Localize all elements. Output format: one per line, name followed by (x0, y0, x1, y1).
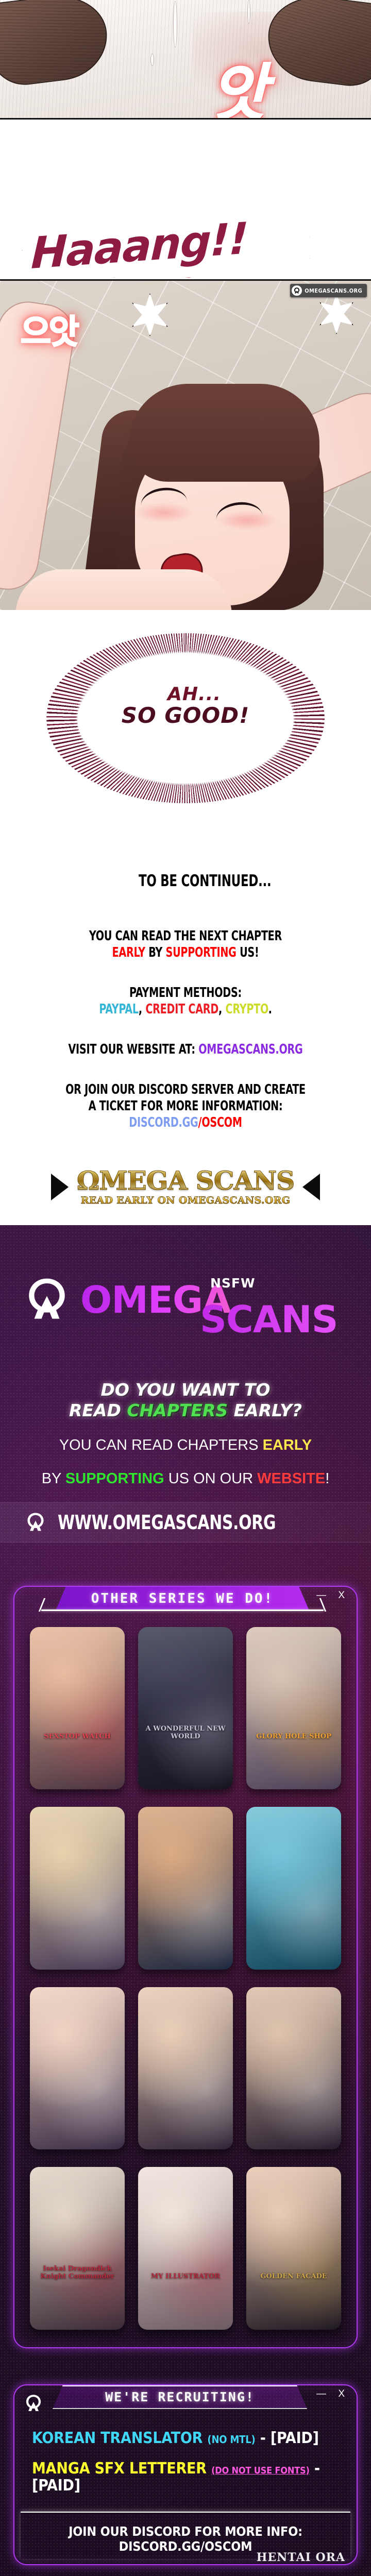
omega-logo-icon (23, 1276, 71, 1324)
recruit-footer: JOIN OUR DISCORD FOR MORE INFO: DISCORD.… (21, 2512, 350, 2559)
character-torso (15, 569, 232, 610)
sub1-early: EARLY (263, 1437, 312, 1453)
comic-panel-3: 으앗 OMEGASCANS.ORG (0, 279, 371, 610)
series-card[interactable]: Isekai Dragondick Knight Commander (30, 2167, 125, 2329)
headline-line-2: READ CHAPTERS EARLY? (0, 1400, 371, 1421)
site-watermark: OMEGASCANS.ORG (290, 284, 367, 297)
series-card[interactable]: A WONDERFUL NEW WORLD (138, 1627, 233, 1789)
cover-gloss (138, 2167, 233, 2329)
omegascans-gold-banner: ΩMEGA SCANS READ EARLY ON OMEGASCANS.ORG (0, 1149, 371, 1225)
dark-sub-line-2: BY SUPPORTING US ON OUR WEBSITE! (0, 1469, 371, 1489)
sub2-by: BY (42, 1470, 65, 1487)
role-dash: - (256, 2429, 271, 2447)
role-dash: - (310, 2460, 320, 2478)
payment-methods-values: PAYPAL, CREDIT CARD, CRYPTO. (33, 1002, 338, 1017)
gold-banner-text: ΩMEGA SCANS READ EARLY ON OMEGASCANS.ORG (77, 1168, 294, 1206)
website-url-bar[interactable]: WWW.OMEGASCANS.ORG (0, 1502, 371, 1543)
sfx-korean-panel3: 으앗 (21, 306, 77, 353)
sub2-bang: ! (325, 1470, 329, 1487)
by-word: BY (145, 945, 166, 960)
comic-panel-2: Haaang!! (0, 120, 371, 279)
sep: , (139, 1002, 145, 1017)
recruit-discord-line[interactable]: JOIN OUR DISCORD FOR MORE INFO: DISCORD.… (21, 2524, 350, 2554)
webtoon-page: 앗 Haaang!! 으앗 OMEGASCANS.ORG (0, 0, 371, 2576)
crypto-label: CRYPTO (226, 1002, 268, 1017)
series-title: A WONDERFUL NEW WORLD (138, 1725, 233, 1741)
series-card[interactable] (246, 1987, 341, 2149)
right-arrow-icon (302, 1174, 320, 1200)
hentai-ora-brand: HENTAI ORA (257, 2551, 345, 2564)
cover-gloss (30, 1807, 125, 1969)
us-word: US! (237, 945, 259, 960)
role-row: KOREAN TRANSLATOR (NO MTL) - [PAID] (32, 2430, 357, 2447)
headline-line-1: DO YOU WANT TO (0, 1380, 371, 1400)
cover-gloss (30, 1987, 125, 2149)
payment-methods-label: PAYMENT METHODS: (33, 985, 338, 1001)
gold-banner-subtitle: READ EARLY ON OMEGASCANS.ORG (77, 1195, 294, 1206)
support-line: EARLY BY SUPPORTING US! (33, 945, 338, 960)
recruiting-window: WE'RE RECRUITING! — X KOREAN TRANSLATOR … (13, 2384, 358, 2565)
series-card[interactable] (138, 1987, 233, 2149)
fluid-drip (150, 54, 154, 66)
role-name: MANGA SFX LETTERER (32, 2460, 207, 2478)
cover-gloss (138, 1627, 233, 1789)
site-url-text[interactable]: WWW.OMEGASCANS.ORG (58, 1511, 276, 1534)
series-card[interactable]: GOLDEN FACADE (246, 2167, 341, 2329)
gold-banner-title: ΩMEGA SCANS (77, 1168, 294, 1194)
dark-sub-line-1: YOU CAN READ CHAPTERS EARLY (0, 1436, 371, 1455)
series-card[interactable] (246, 1807, 341, 1969)
comic-panel-4-bubble: AH... SO GOOD! (0, 610, 371, 857)
discord-line-1: OR JOIN OUR DISCORD SERVER AND CREATE (33, 1082, 338, 1097)
early-word: EARLY (112, 945, 145, 960)
sub2-mid: US ON OUR (164, 1470, 257, 1487)
bubble-line-2: SO GOOD! (0, 704, 371, 727)
role-row: MANGA SFX LETTERER (DO NOT USE FONTS) - … (32, 2460, 357, 2494)
window-title-chip: OTHER SERIES WE DO! (56, 1587, 309, 1611)
cover-gloss (246, 1987, 341, 2149)
hair-bangs (129, 384, 319, 482)
sep: , (218, 1002, 225, 1017)
discord-path[interactable]: /OSCOM (198, 1115, 242, 1130)
comic-panel-1: 앗 (0, 0, 371, 120)
role-pay: [PAID] (271, 2429, 319, 2447)
paypal-label: PAYPAL (99, 1002, 138, 1017)
series-title: GLORY HOLE SHOP (246, 1733, 341, 1741)
website-url[interactable]: OMEGASCANS.ORG (198, 1042, 302, 1057)
series-grid: SEXSTOP WATCHA WONDERFUL NEW WORLDGLORY … (14, 1619, 357, 2330)
visit-website-line[interactable]: VISIT OUR WEBSITE AT: OMEGASCANS.ORG (33, 1042, 338, 1057)
left-arrow-icon (51, 1174, 69, 1200)
discord-line-2: A TICKET FOR MORE INFORMATION: (33, 1098, 338, 1114)
titlebar-underline (41, 1609, 324, 1611)
discord-invite-link[interactable]: DISCORD.GG/OSCOM (33, 1115, 338, 1130)
cover-gloss (138, 1987, 233, 2149)
recruit-title-chip: WE'RE RECRUITING! (53, 2385, 307, 2409)
series-card[interactable] (138, 1807, 233, 1969)
series-card[interactable]: MY ILLUSTRATOR (138, 2167, 233, 2329)
sub2-website: WEBSITE (257, 1470, 325, 1487)
cover-gloss (30, 1627, 125, 1789)
cover-gloss (246, 2167, 341, 2329)
bubble-line-1: AH... (0, 685, 371, 704)
other-series-window: OTHER SERIES WE DO! — X SEXSTOP WATCHA W… (13, 1586, 358, 2348)
series-title: MY ILLUSTRATOR (138, 2273, 233, 2281)
sub2-supporting: SUPPORTING (65, 1470, 164, 1487)
role-note: (NO MTL) (207, 2433, 255, 2446)
logo-nsfw-badge: NSFW (210, 1277, 256, 1290)
discord-host[interactable]: DISCORD.GG (129, 1115, 198, 1130)
omegascans-nsfw-logo: OMEGA SCANS NSFW (0, 1225, 371, 1375)
logo-scans-text: SCANS (200, 1302, 338, 1337)
credit-card-label: CREDIT CARD (145, 1002, 218, 1017)
other-series-title: OTHER SERIES WE DO! (91, 1591, 274, 1606)
headline-early: EARLY? (228, 1400, 302, 1420)
omega-logo-icon (25, 1512, 46, 1533)
period: . (268, 1002, 272, 1017)
series-title: SEXSTOP WATCH (30, 1733, 125, 1741)
sub1-text: YOU CAN READ CHAPTERS (59, 1437, 263, 1453)
series-title: Isekai Dragondick Knight Commander (30, 2265, 125, 2281)
window-controls[interactable]: — X (316, 2388, 349, 2400)
cover-gloss (246, 1627, 341, 1789)
series-card[interactable] (30, 1987, 125, 2149)
series-card[interactable]: GLORY HOLE SHOP (246, 1627, 341, 1789)
to-be-continued: TO BE CONTINUED... (33, 872, 338, 890)
headline-chapters: CHAPTERS (127, 1400, 228, 1420)
headline-read: READ (69, 1400, 127, 1420)
speech-bubble-text: AH... SO GOOD! (0, 685, 371, 727)
series-title: GOLDEN FACADE (246, 2273, 341, 2281)
window-titlebar: OTHER SERIES WE DO! — X (14, 1587, 357, 1619)
role-note: (DO NOT USE FONTS) (211, 2465, 310, 2476)
sfx-korean-panel1: 앗 (210, 67, 264, 120)
role-pay: [PAID] (32, 2477, 80, 2495)
fluid-drip (247, 0, 250, 24)
recruit-roles-list: KOREAN TRANSLATOR (NO MTL) - [PAID] MANG… (14, 2421, 357, 2494)
series-card[interactable] (30, 1807, 125, 1969)
dark-promo-headline: DO YOU WANT TO READ CHAPTERS EARLY? YOU … (0, 1375, 371, 1489)
nsfw-wordmark: OMEGA SCANS NSFW (80, 1282, 231, 1317)
cover-gloss (246, 1807, 341, 1969)
cover-gloss (30, 2167, 125, 2329)
recruit-titlebar: WE'RE RECRUITING! — X (14, 2385, 357, 2421)
visit-label: VISIT OUR WEBSITE AT: (68, 1042, 198, 1057)
dark-promo-section: OMEGA SCANS NSFW DO YOU WANT TO READ CHA… (0, 1225, 371, 2576)
promo-text-block: TO BE CONTINUED... YOU CAN READ THE NEXT… (0, 857, 371, 1149)
recruit-title: WE'RE RECRUITING! (105, 2389, 255, 2404)
window-controls[interactable]: — X (316, 1590, 349, 1601)
series-card[interactable]: SEXSTOP WATCH (30, 1627, 125, 1789)
watermark-text: OMEGASCANS.ORG (305, 287, 362, 294)
omega-logo-icon (292, 285, 302, 296)
fluid-drip (173, 1, 177, 47)
role-name: KOREAN TRANSLATOR (32, 2429, 203, 2447)
omega-logo-icon (24, 2394, 43, 2413)
supporting-word: SUPPORTING (165, 945, 236, 960)
cover-gloss (138, 1807, 233, 1969)
next-chapter-line: YOU CAN READ THE NEXT CHAPTER (33, 928, 338, 944)
